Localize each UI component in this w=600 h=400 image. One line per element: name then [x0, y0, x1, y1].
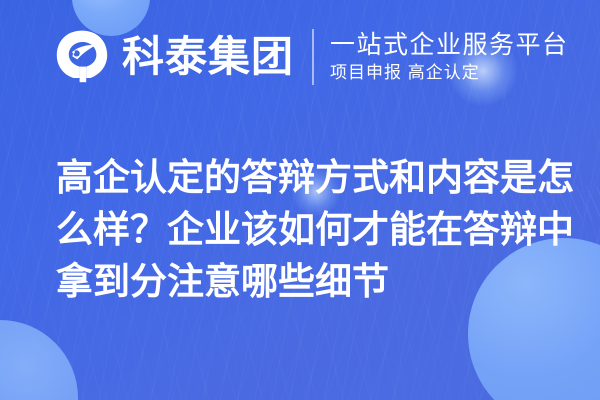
- decorative-circle-bottom-left: [0, 320, 78, 400]
- headline-line-1: 高企认定的答辩方式和内容是怎: [56, 152, 556, 204]
- headline: 高企认定的答辩方式和内容是怎 么样？企业该如何才能在答辩中 拿到分注意哪些细节: [56, 152, 556, 308]
- tagline-main: 一站式企业服务平台: [330, 31, 569, 59]
- brand-name: 科泰集团: [122, 36, 294, 78]
- headline-line-3: 拿到分注意哪些细节: [56, 256, 556, 308]
- promo-banner: 科泰集团 一站式企业服务平台 项目申报 高企认定 高企认定的答辩方式和内容是怎 …: [0, 0, 600, 400]
- tagline-block: 一站式企业服务平台 项目申报 高企认定: [330, 28, 569, 86]
- brand-bar: 科泰集团 一站式企业服务平台 项目申报 高企认定: [52, 26, 569, 88]
- brand-divider: [312, 29, 314, 85]
- tagline-sub: 项目申报 高企认定: [330, 64, 569, 83]
- ketai-group-logo-icon: [52, 27, 112, 87]
- headline-line-2: 么样？企业该如何才能在答辩中: [56, 204, 556, 256]
